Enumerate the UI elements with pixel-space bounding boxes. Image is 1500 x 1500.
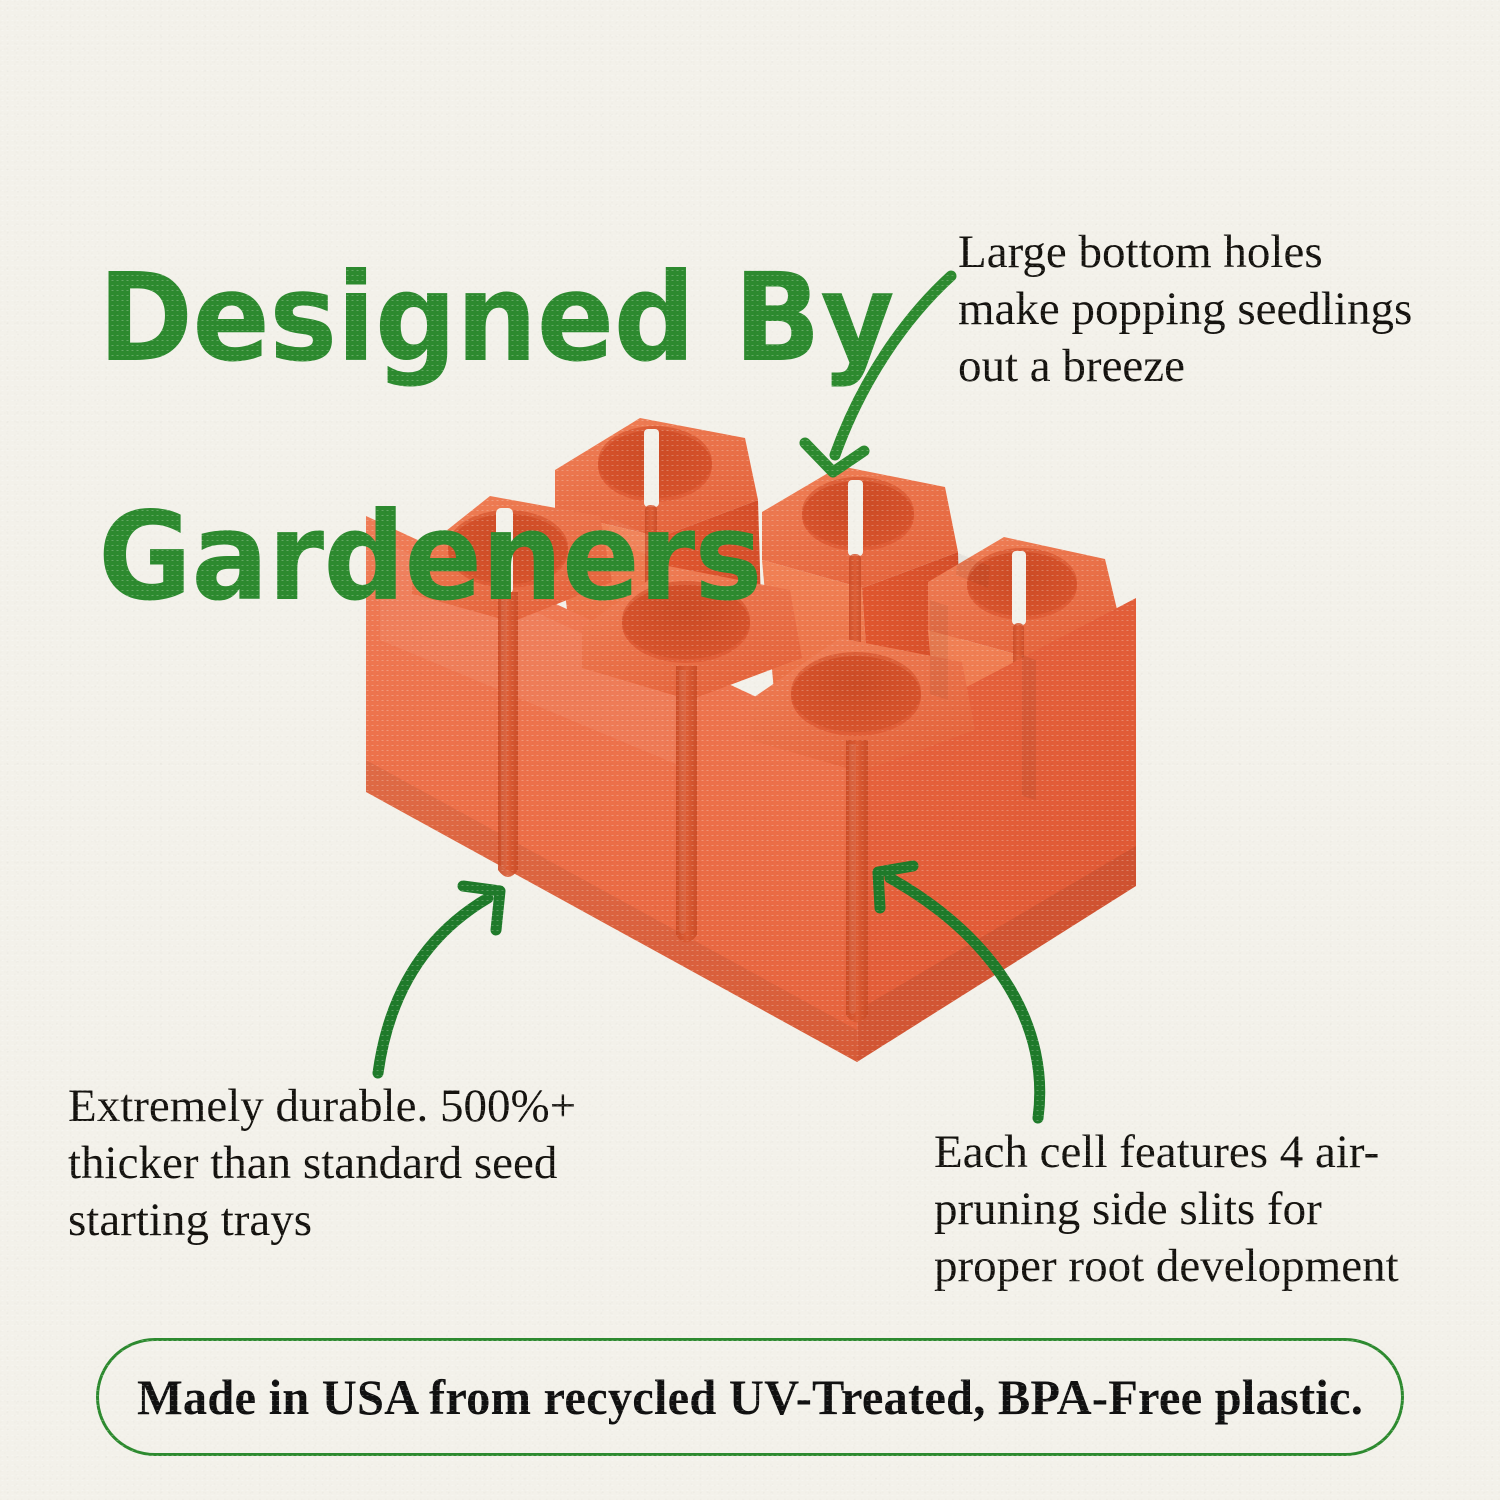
made-in-usa-banner-text: Made in USA from recycled UV-Treated, BP… [137,1368,1363,1426]
page-title-line-1: Designed By [98,259,894,379]
infographic-page: Designed By Gardeners Large bottom holes… [0,0,1500,1500]
callout-extremely-durable: Extremely durable. 500%+ thicker than st… [68,1078,668,1249]
callout-large-bottom-holes: Large bottom holes make popping seedling… [958,224,1478,395]
page-title-line-2: Gardeners [98,498,894,618]
callout-air-pruning-slits: Each cell features 4 air- pruning side s… [934,1124,1474,1295]
page-title: Designed By Gardeners [98,140,894,738]
made-in-usa-banner: Made in USA from recycled UV-Treated, BP… [96,1338,1404,1456]
